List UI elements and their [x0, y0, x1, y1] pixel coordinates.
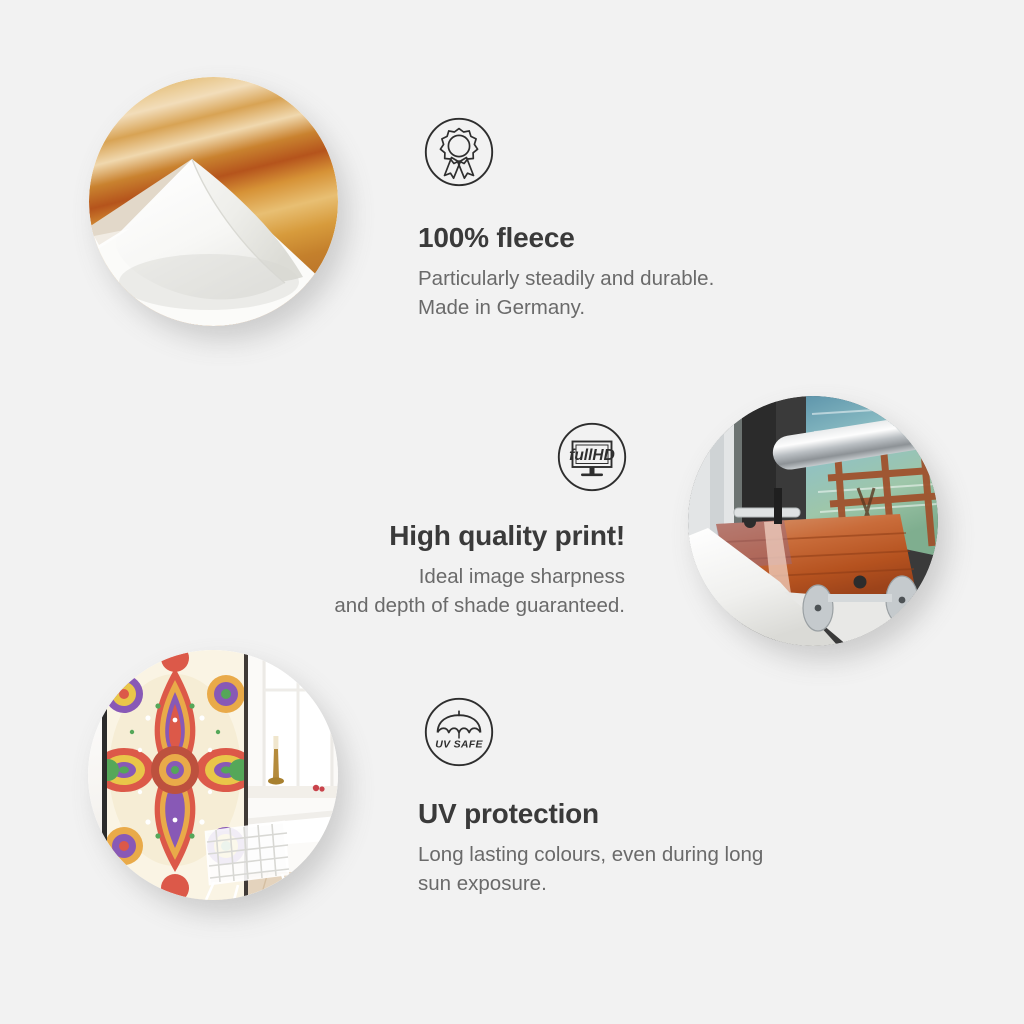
- paisley-room-artwork: [88, 650, 338, 900]
- uv-safe-text: UV SAFE: [435, 739, 483, 751]
- fullhd-text: fullHD: [569, 447, 615, 464]
- fullhd-monitor-icon: fullHD: [557, 422, 627, 492]
- printing-press-artwork: [688, 396, 938, 646]
- feature-heading-print: High quality print!: [200, 521, 625, 552]
- feature-body-uv: Long lasting colours, even during long s…: [418, 840, 868, 898]
- peeling-wallpaper-artwork: [89, 77, 338, 326]
- feature-heading-uv: UV protection: [418, 799, 868, 830]
- fullhd-monitor-glyph: fullHD: [557, 422, 627, 492]
- feature-text-uv: UV protection Long lasting colours, even…: [418, 799, 868, 898]
- feature-body-line-2: and depth of shade guaranteed.: [334, 594, 625, 617]
- uv-safe-umbrella-icon: UV SAFE: [424, 697, 494, 767]
- printing-press-photo: [688, 396, 938, 646]
- feature-body-fleece: Particularly steadily and durable. Made …: [418, 264, 838, 322]
- feature-body-line-2: Made in Germany.: [418, 296, 585, 319]
- feature-body-line-2: sun exposure.: [418, 872, 547, 895]
- feature-body-line-1: Ideal image sharpness: [419, 565, 625, 588]
- feature-body-line-1: Long lasting colours, even during long: [418, 843, 763, 866]
- feature-body-line-1: Particularly steadily and durable.: [418, 267, 714, 290]
- paisley-wallpaper-room-photo: [88, 650, 338, 900]
- feature-text-fleece: 100% fleece Particularly steadily and du…: [418, 223, 838, 322]
- feature-heading-fleece: 100% fleece: [418, 223, 838, 254]
- feature-text-print: High quality print! Ideal image sharpnes…: [200, 521, 625, 620]
- award-rosette-icon: [424, 117, 494, 187]
- award-rosette-glyph: [424, 117, 494, 187]
- feature-panel: 100% fleece Particularly steadily and du…: [0, 0, 1024, 1024]
- uv-safe-umbrella-glyph: UV SAFE: [424, 697, 494, 767]
- peeling-wallpaper-photo: [89, 77, 338, 326]
- feature-body-print: Ideal image sharpness and depth of shade…: [200, 562, 625, 620]
